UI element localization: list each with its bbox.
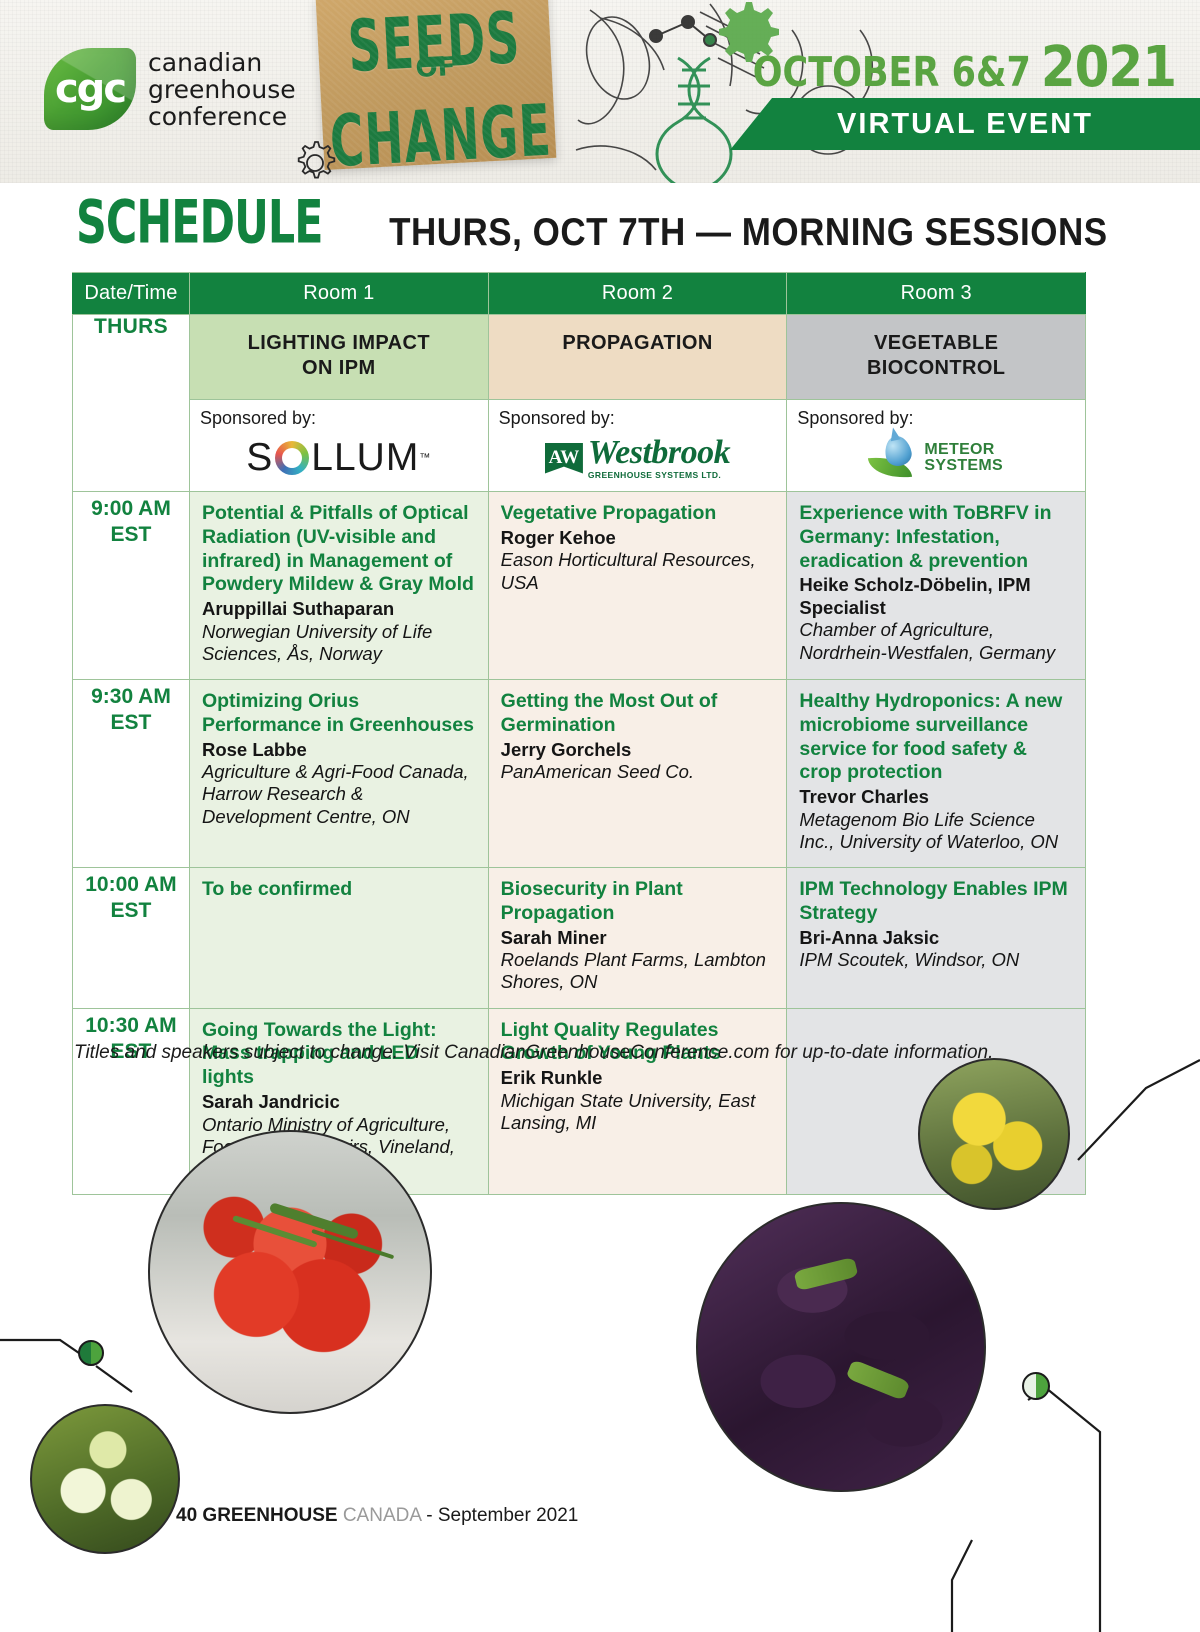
westbrook-tagline: GREENHOUSE SYSTEMS LTD. xyxy=(588,471,721,480)
sponsored-by-label-2: Sponsored by: xyxy=(499,408,777,429)
col-header-datetime: Date/Time xyxy=(73,273,190,315)
page-subtitle: THURS, OCT 7TH — MORNING SESSIONS xyxy=(389,210,1108,255)
table-header-row: Date/Time Room 1 Room 2 Room 3 xyxy=(73,273,1086,315)
westbrook-logo: AW Westbrook GREENHOUSE SYSTEMS LTD. xyxy=(499,431,777,485)
seeds-of-change-tag: SEEDS OF CHANGE xyxy=(316,0,557,170)
cgc-word-greenhouse: greenhouse xyxy=(148,76,296,103)
session-speaker: Heike Scholz-Döbelin, IPM Specialist xyxy=(799,574,1073,619)
cgc-monogram: cgc xyxy=(55,69,125,109)
cgc-leaf-icon: cgc xyxy=(44,48,136,130)
cgc-logo: cgc canadian greenhouse conference xyxy=(44,48,296,130)
event-year: 2021 xyxy=(1041,35,1176,100)
session-affiliation: Chamber of Agriculture, Nordrhein-Westfa… xyxy=(799,619,1073,663)
track-name-room1: LIGHTING IMPACT ON IPM xyxy=(189,315,488,400)
session-title: Healthy Hydroponics: A new microbiome su… xyxy=(799,690,1073,785)
event-banner: cgc canadian greenhouse conference SEEDS… xyxy=(0,0,1200,186)
page-credit-issue: - September 2021 xyxy=(421,1505,578,1526)
time-label-1: 9:30 AM EST xyxy=(73,680,190,868)
session-affiliation: Agriculture & Agri-Food Canada, Harrow R… xyxy=(202,761,476,828)
event-date: OCTOBER 6&7 2021 xyxy=(753,38,1176,96)
session-cell-2-0: To be confirmed xyxy=(189,868,488,1009)
sponsor-cell-room3: Sponsored by: METEOR SYSTEMS xyxy=(787,400,1086,492)
session-speaker: Rose Labbe xyxy=(202,739,476,762)
session-title: Biosecurity in Plant Propagation xyxy=(501,878,775,926)
cgc-wordmark: canadian greenhouse conference xyxy=(148,49,296,130)
table-row: 9:30 AM EST Optimizing Orius Performance… xyxy=(73,680,1086,868)
cgc-word-conference: conference xyxy=(148,103,296,130)
meteor-systems-logo: METEOR SYSTEMS xyxy=(797,431,1075,485)
network-nodes-icon xyxy=(650,16,716,46)
sponsored-by-label-3: Sponsored by: xyxy=(797,408,1075,429)
time-label-2: 10:00 AM EST xyxy=(73,868,190,1009)
session-title: To be confirmed xyxy=(202,878,476,902)
track-name-room2: PROPAGATION xyxy=(488,315,787,400)
track-row: THURS LIGHTING IMPACT ON IPM PROPAGATION… xyxy=(73,315,1086,400)
session-speaker: Sarah Miner xyxy=(501,927,775,950)
westbrook-name: Westbrook xyxy=(588,436,730,470)
page-credit-publication: 40 GREENHOUSE xyxy=(176,1505,338,1526)
session-cell-1-0: Optimizing Orius Performance in Greenhou… xyxy=(189,680,488,868)
tag-line-seeds: SEEDS xyxy=(324,4,545,81)
session-affiliation: IPM Scoutek, Windsor, ON xyxy=(799,949,1073,971)
session-affiliation: Metagenom Bio Life Science Inc., Univers… xyxy=(799,809,1073,853)
session-speaker: Trevor Charles xyxy=(799,786,1073,809)
node-dot-left xyxy=(78,1340,104,1366)
col-header-room3: Room 3 xyxy=(787,273,1086,315)
session-affiliation: Eason Horticultural Resources, USA xyxy=(501,549,775,593)
sollum-logo: SLLUM™ xyxy=(200,431,478,485)
session-affiliation: PanAmerican Seed Co. xyxy=(501,761,775,783)
session-cell-0-1: Vegetative Propagation Roger Kehoe Eason… xyxy=(488,492,787,680)
session-cell-0-2: Experience with ToBRFV in Germany: Infes… xyxy=(787,492,1086,680)
session-speaker: Bri-Anna Jaksic xyxy=(799,927,1073,950)
page-title: SCHEDULE xyxy=(76,187,323,257)
photo-eggplants xyxy=(696,1202,986,1492)
westbrook-mark-icon: AW xyxy=(545,443,583,474)
day-label: THURS xyxy=(73,315,190,492)
page-title-row: SCHEDULE THURS, OCT 7TH — MORNING SESSIO… xyxy=(76,203,1116,261)
sollum-tm: ™ xyxy=(419,452,431,464)
tag-line-change: CHANGE xyxy=(328,98,549,175)
page-credit: 40 GREENHOUSE CANADA - September 2021 xyxy=(176,1505,578,1527)
photo-orchid xyxy=(30,1404,180,1554)
table-row: 9:00 AM EST Potential & Pitfalls of Opti… xyxy=(73,492,1086,680)
session-cell-1-2: Healthy Hydroponics: A new microbiome su… xyxy=(787,680,1086,868)
session-cell-2-2: IPM Technology Enables IPM Strategy Bri-… xyxy=(787,868,1086,1009)
session-title: IPM Technology Enables IPM Strategy xyxy=(799,878,1073,926)
tag-line-of: OF xyxy=(415,52,456,84)
session-title: Potential & Pitfalls of Optical Radiatio… xyxy=(202,502,476,597)
schedule-page: cgc canadian greenhouse conference SEEDS… xyxy=(0,0,1200,1632)
dna-helix-icon xyxy=(657,58,731,186)
page-credit-country: CANADA xyxy=(338,1505,421,1526)
meteor-name-line2: SYSTEMS xyxy=(924,458,1003,474)
session-cell-1-1: Getting the Most Out of Germination Jerr… xyxy=(488,680,787,868)
photo-tomatoes xyxy=(148,1130,432,1414)
session-title: Vegetative Propagation xyxy=(501,502,775,526)
session-affiliation: Roelands Plant Farms, Lambton Shores, ON xyxy=(501,949,775,993)
session-speaker: Jerry Gorchels xyxy=(501,739,775,762)
sponsor-cell-room1: Sponsored by: SLLUM™ xyxy=(189,400,488,492)
session-title: Getting the Most Out of Germination xyxy=(501,690,775,738)
sollum-ring-icon xyxy=(275,441,309,475)
session-cell-0-0: Potential & Pitfalls of Optical Radiatio… xyxy=(189,492,488,680)
session-speaker: Aruppillai Suthaparan xyxy=(202,598,476,621)
sponsor-cell-room2: Sponsored by: AW Westbrook GREENHOUSE SY… xyxy=(488,400,787,492)
col-header-room1: Room 1 xyxy=(189,273,488,315)
session-cell-2-1: Biosecurity in Plant Propagation Sarah M… xyxy=(488,868,787,1009)
gear-icon-small xyxy=(292,140,338,186)
session-title: Optimizing Orius Performance in Greenhou… xyxy=(202,690,476,738)
session-affiliation: Norwegian University of Life Sciences, Å… xyxy=(202,621,476,665)
sponsored-by-label-1: Sponsored by: xyxy=(200,408,478,429)
session-title: Experience with ToBRFV in Germany: Infes… xyxy=(799,502,1073,573)
time-label-0: 9:00 AM EST xyxy=(73,492,190,680)
track-name-room3: VEGETABLE BIOCONTROL xyxy=(787,315,1086,400)
photo-yellow-flowers xyxy=(918,1058,1070,1210)
session-speaker: Roger Kehoe xyxy=(501,527,775,550)
virtual-event-ribbon: VIRTUAL EVENT xyxy=(730,98,1200,150)
cgc-word-canadian: canadian xyxy=(148,49,296,76)
node-dot-right xyxy=(1022,1372,1050,1400)
meteor-waterdrop-leaf-icon xyxy=(869,436,921,480)
col-header-room2: Room 2 xyxy=(488,273,787,315)
table-row: 10:00 AM EST To be confirmed Biosecurity… xyxy=(73,868,1086,1009)
meteor-name-line1: METEOR xyxy=(924,442,1003,458)
sponsor-row: Sponsored by: SLLUM™ Sponsored by: AW We… xyxy=(73,400,1086,492)
tomato-vine xyxy=(268,1202,359,1240)
event-date-text: OCTOBER 6&7 xyxy=(753,49,1031,96)
virtual-event-label: VIRTUAL EVENT xyxy=(837,108,1093,141)
